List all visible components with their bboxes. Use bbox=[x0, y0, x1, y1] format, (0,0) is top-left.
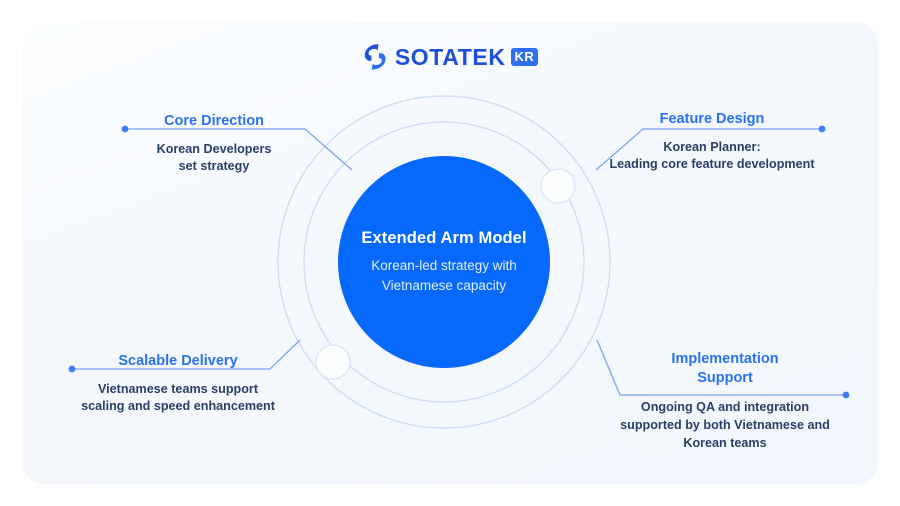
callout-title-scalable-delivery: Scalable Delivery bbox=[58, 352, 298, 371]
core-subtitle: Korean-led strategy with Vietnamese capa… bbox=[354, 256, 534, 295]
callout-implementation-support: Implementation Support Ongoing QA and in… bbox=[602, 350, 848, 453]
callout-body-feature-design: Korean Planner: Leading core feature dev… bbox=[578, 139, 846, 175]
core-title: Extended Arm Model bbox=[361, 229, 526, 249]
callout-body-core-direction: Korean Developers set strategy bbox=[108, 141, 320, 177]
sotatek-logo-mark-icon bbox=[362, 43, 388, 71]
logo-wordmark: SOTATEK bbox=[395, 46, 506, 69]
core-circle: Extended Arm Model Korean-led strategy w… bbox=[338, 156, 550, 368]
diagram-canvas: SOTATEK KR Extended Arm Model Korean-led… bbox=[0, 0, 900, 506]
callout-title-feature-design: Feature Design bbox=[578, 110, 846, 129]
callout-scalable-delivery: Scalable Delivery Vietnamese teams suppo… bbox=[58, 352, 298, 416]
callout-body-implementation-support: Ongoing QA and integration supported by … bbox=[602, 399, 848, 453]
orbit-node-top-right bbox=[541, 169, 575, 203]
callout-feature-design: Feature Design Korean Planner: Leading c… bbox=[578, 110, 846, 174]
callout-body-scalable-delivery: Vietnamese teams support scaling and spe… bbox=[58, 381, 298, 417]
brand-logo: SOTATEK KR bbox=[0, 40, 900, 74]
logo-kr-badge: KR bbox=[511, 48, 539, 66]
orbit-node-bottom-left bbox=[316, 345, 350, 379]
callout-core-direction: Core Direction Korean Developers set str… bbox=[108, 112, 320, 176]
callout-title-core-direction: Core Direction bbox=[108, 112, 320, 131]
callout-title-implementation-support: Implementation Support bbox=[602, 350, 848, 387]
